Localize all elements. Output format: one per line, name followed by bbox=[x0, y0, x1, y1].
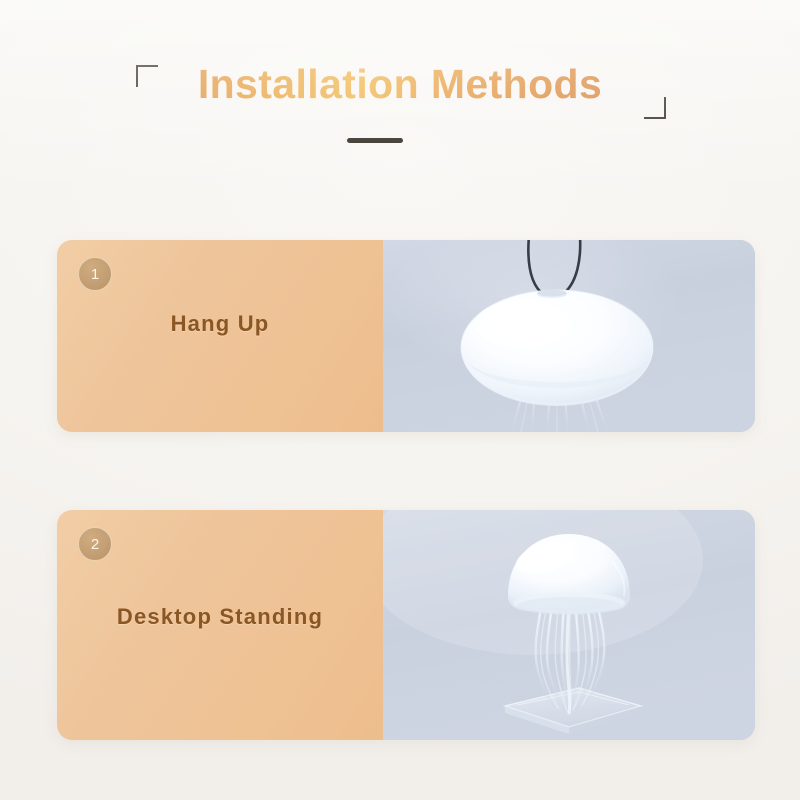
method-card-hang-up[interactable]: 1 Hang Up bbox=[57, 240, 755, 432]
hanging-jellyfish-lamp-illustration bbox=[383, 240, 755, 432]
installation-methods-page: Installation Methods 1 Hang Up bbox=[0, 0, 800, 800]
step-badge: 2 bbox=[78, 527, 112, 561]
method-photo-hang-up bbox=[383, 240, 755, 432]
method-card-desktop-standing[interactable]: 2 Desktop Standing bbox=[57, 510, 755, 740]
method-label: Desktop Standing bbox=[57, 604, 383, 630]
step-badge: 1 bbox=[78, 257, 112, 291]
method-photo-desktop-standing bbox=[383, 510, 755, 740]
standing-jellyfish-lamp-illustration bbox=[383, 510, 755, 740]
method-label: Hang Up bbox=[57, 311, 383, 337]
methods-list: 1 Hang Up bbox=[0, 0, 800, 800]
method-card-text-panel: 1 Hang Up bbox=[57, 240, 383, 432]
method-card-text-panel: 2 Desktop Standing bbox=[57, 510, 383, 740]
